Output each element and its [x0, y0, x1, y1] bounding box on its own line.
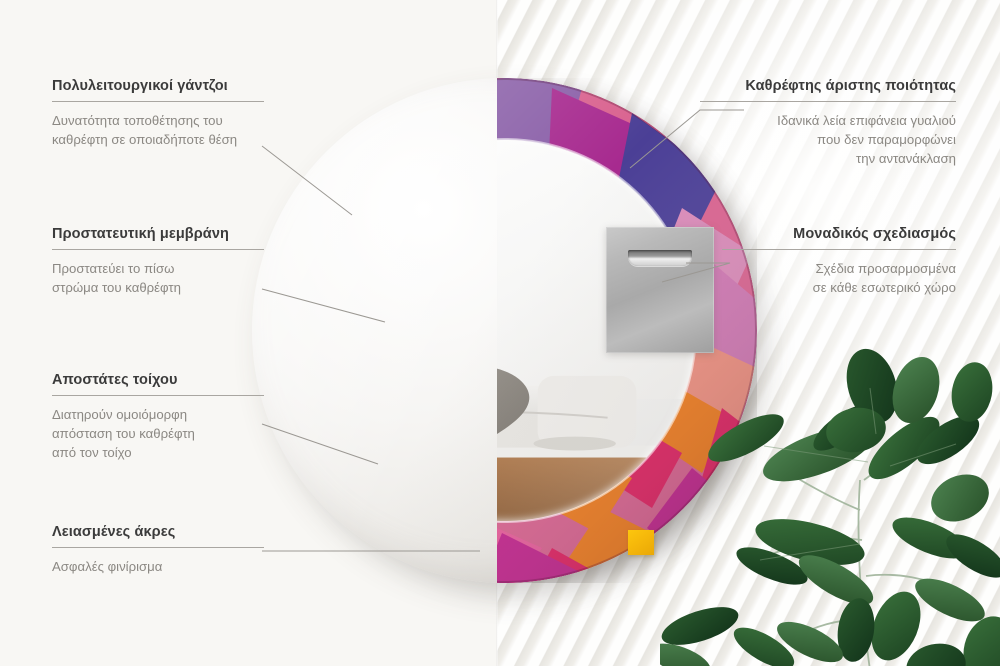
callout-smoothed-edges[interactable]: Λειασμένες άκρες Ασφαλές φινίρισμα [52, 524, 264, 576]
callout-title: Μοναδικός σχεδιασμός [722, 226, 956, 242]
callout-protective-membrane[interactable]: Προστατευτική μεμβράνη Προστατεύει το πί… [52, 226, 264, 297]
callout-top-quality-mirror[interactable]: Καθρέφτης άριστης ποιότητας Ιδανικά λεία… [700, 78, 956, 168]
callout-rule [52, 249, 264, 250]
callout-description: Δυνατότητα τοποθέτησης του καθρέφτη σε ο… [52, 111, 264, 149]
infographic-canvas: Πολυλειτουργικοί γάντζοι Δυνατότητα τοπο… [0, 0, 1000, 666]
callout-title: Λειασμένες άκρες [52, 524, 264, 540]
callout-title: Αποστάτες τοίχου [52, 372, 264, 388]
callout-wall-spacers[interactable]: Αποστάτες τοίχου Διατηρούν ομοιόμορφη απ… [52, 372, 264, 462]
callout-rule [52, 395, 264, 396]
decorative-plant [660, 330, 1000, 666]
callout-multifunctional-hooks[interactable]: Πολυλειτουργικοί γάντζοι Δυνατότητα τοπο… [52, 78, 264, 149]
callout-rule [722, 249, 956, 250]
callout-description: Ιδανικά λεία επιφάνεια γυαλιού που δεν π… [700, 111, 956, 168]
callout-title: Καθρέφτης άριστης ποιότητας [700, 78, 956, 94]
callout-unique-design[interactable]: Μοναδικός σχεδιασμός Σχέδια προσαρμοσμέν… [722, 226, 956, 297]
callout-title: Προστατευτική μεμβράνη [52, 226, 264, 242]
callout-rule [52, 547, 264, 548]
callout-title: Πολυλειτουργικοί γάντζοι [52, 78, 264, 94]
callout-description: Σχέδια προσαρμοσμένα σε κάθε εσωτερικό χ… [722, 259, 956, 297]
hook-slot [628, 250, 693, 266]
wall-spacer-pad [628, 530, 654, 555]
callout-rule [52, 101, 264, 102]
callout-rule [700, 101, 956, 102]
callout-description: Ασφαλές φινίρισμα [52, 557, 264, 576]
callout-description: Προστατεύει το πίσω στρώμα του καθρέφτη [52, 259, 264, 297]
callout-description: Διατηρούν ομοιόμορφη απόσταση του καθρέφ… [52, 405, 264, 462]
